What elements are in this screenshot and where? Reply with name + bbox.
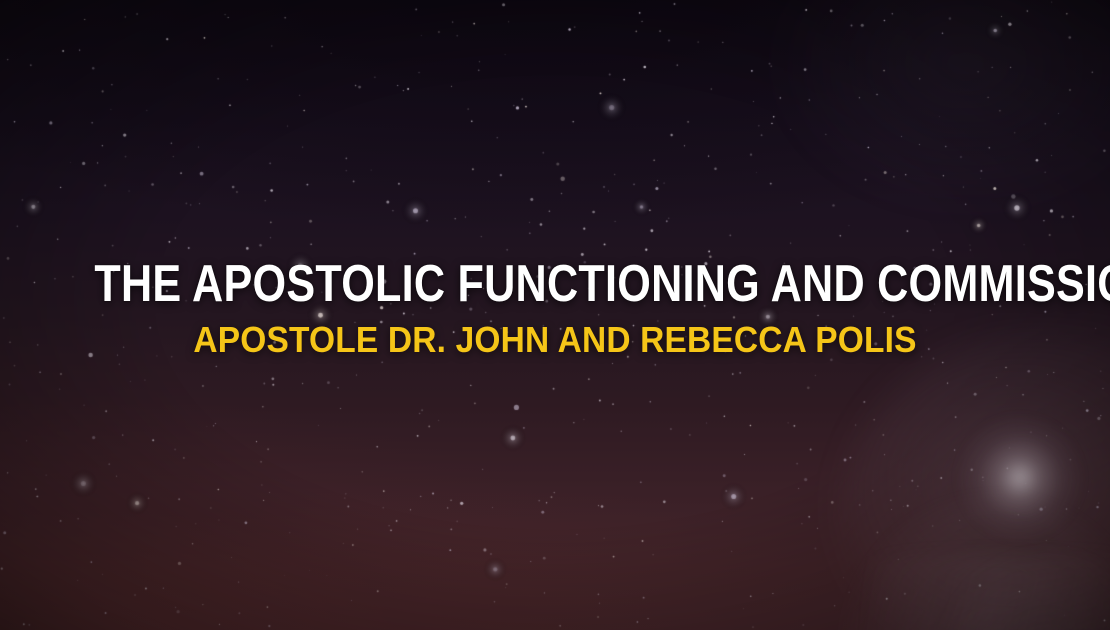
page-title: THE APOSTOLIC FUNCTIONING AND COMMISSION… [94,258,1015,310]
title-card-slide: THE APOSTOLIC FUNCTIONING AND COMMISSION… [0,0,1110,630]
title-block: THE APOSTOLIC FUNCTIONING AND COMMISSION… [0,258,1110,358]
page-subtitle: APOSTOLE DR. JOHN AND REBECCA POLIS [39,322,1071,358]
